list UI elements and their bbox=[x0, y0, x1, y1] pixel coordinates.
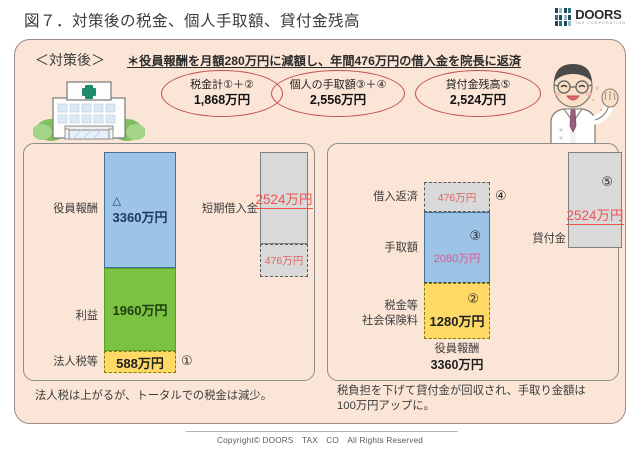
footer-copyright: Copyright© DOORS TAX CO All Rights Reser… bbox=[0, 434, 640, 446]
marker-circle-4: ④ bbox=[495, 188, 507, 204]
callout-personal-takehome-label: 個人の手取額③＋④ bbox=[290, 79, 387, 93]
loan-repayment-value: 476万円 bbox=[438, 190, 477, 205]
label-officer-comp-total: 役員報酬 3360万円 bbox=[418, 342, 496, 373]
marker-circle-3: ③ bbox=[469, 229, 481, 242]
callout-personal-takehome-amount: 2,556万円 bbox=[310, 93, 366, 109]
repayment-value: 476万円 bbox=[265, 253, 304, 268]
bar-segment-tax-and-insurance: ② 1280万円 bbox=[424, 283, 490, 339]
callout-loan-balance-amount: 2,524万円 bbox=[450, 93, 506, 109]
bar-segment-officer-comp: △ 3360万円 bbox=[104, 152, 176, 268]
after-measures-label: ＜対策後＞ bbox=[35, 50, 105, 70]
callout-loan-balance: 貸付金残高⑤ 2,524万円 bbox=[415, 70, 541, 117]
label-tax-and-insurance-line1: 税金等 bbox=[334, 299, 418, 314]
label-loan-asset: 貸付金 bbox=[504, 232, 566, 247]
callout-loan-balance-label: 貸付金残高⑤ bbox=[446, 79, 511, 93]
profit-value: 1960万円 bbox=[113, 300, 168, 319]
callout-tax-total: 税金計①＋② 1,868万円 bbox=[161, 70, 283, 117]
doctor-waving-icon bbox=[537, 54, 623, 150]
logo-tagline: TAX CORPORATION bbox=[575, 22, 626, 26]
corporate-tax-value: 588万円 bbox=[116, 353, 164, 372]
right-chart-panel: 476万円 借入返済 ④ ③ 2080万円 手取額 ② 1280万円 税金等 社… bbox=[327, 143, 619, 381]
label-tax-and-insurance-line2: 社会保険料 bbox=[334, 314, 418, 329]
caption-line: 100万円アップに。 bbox=[337, 399, 622, 414]
after-measures-card: ＜対策後＞ ＊役員報酬を月額280万円に減額し、年間476万円の借入金を院長に返… bbox=[14, 39, 626, 424]
callout-tax-total-label: 税金計①＋② bbox=[190, 79, 254, 93]
bar-segment-loan-balance: 2524万円 bbox=[260, 152, 308, 244]
loan-balance-value: 2524万円 bbox=[255, 188, 312, 209]
marker-circle-1: ① bbox=[181, 353, 193, 369]
callout-personal-takehome: 個人の手取額③＋④ 2,556万円 bbox=[271, 70, 405, 117]
label-corporate-tax: 法人税等 bbox=[28, 355, 98, 370]
label-tax-and-insurance: 税金等 社会保険料 bbox=[334, 299, 418, 328]
label-officer-comp-total-line2: 3360万円 bbox=[418, 357, 496, 373]
bar-segment-loan-repayment: 476万円 bbox=[424, 182, 490, 212]
doors-logo: DOORS TAX CORPORATION bbox=[555, 8, 626, 26]
label-profit: 利益 bbox=[32, 309, 98, 324]
label-officer-comp-total-line1: 役員報酬 bbox=[418, 342, 496, 357]
hospital-building-icon bbox=[33, 72, 145, 142]
bar-segment-repayment: 476万円 bbox=[260, 244, 308, 277]
page-title: 図７．対策後の税金、個人手取額、貸付金残高 bbox=[24, 9, 360, 31]
marker-circle-5: ⑤ bbox=[601, 175, 613, 188]
label-loan-repayment: 借入返済 bbox=[342, 190, 418, 205]
bar-segment-profit: 1960万円 bbox=[104, 268, 176, 351]
label-short-term-loan: 短期借入金 bbox=[186, 202, 258, 217]
tax-and-insurance-value: 1280万円 bbox=[430, 311, 485, 330]
bar-segment-takehome: ③ 2080万円 bbox=[424, 212, 490, 283]
loan-asset-value: 2524万円 bbox=[566, 204, 623, 225]
logo-wordmark: DOORS bbox=[575, 8, 626, 21]
label-takehome: 手取額 bbox=[342, 241, 418, 256]
logo-bars-icon bbox=[555, 8, 572, 26]
left-chart-panel: △ 3360万円 役員報酬 1960万円 利益 588万円 法人税等 ① 短期借… bbox=[23, 143, 315, 381]
callout-tax-total-amount: 1,868万円 bbox=[194, 93, 250, 109]
left-panel-caption: 法人税は上がるが、トータルでの税金は減少。 bbox=[35, 389, 315, 404]
officer-comp-value: 3360万円 bbox=[113, 207, 168, 226]
caption-line: 税負担を下げて貸付金が回収され、手取り金額は bbox=[337, 384, 622, 399]
footer-divider bbox=[186, 431, 458, 432]
marker-circle-2: ② bbox=[467, 292, 479, 305]
bar-segment-corporate-tax: 588万円 bbox=[104, 351, 176, 373]
bar-segment-loan-asset: ⑤ 2524万円 bbox=[568, 152, 622, 248]
label-officer-comp: 役員報酬 bbox=[32, 202, 98, 217]
officer-comp-triangle-mark: △ bbox=[113, 194, 121, 207]
takehome-value: 2080万円 bbox=[434, 250, 480, 266]
measures-subtitle: ＊役員報酬を月額280万円に減額し、年間476万円の借入金を院長に返済 bbox=[127, 51, 521, 69]
right-panel-caption: 税負担を下げて貸付金が回収され、手取り金額は100万円アップに。 bbox=[337, 384, 622, 415]
